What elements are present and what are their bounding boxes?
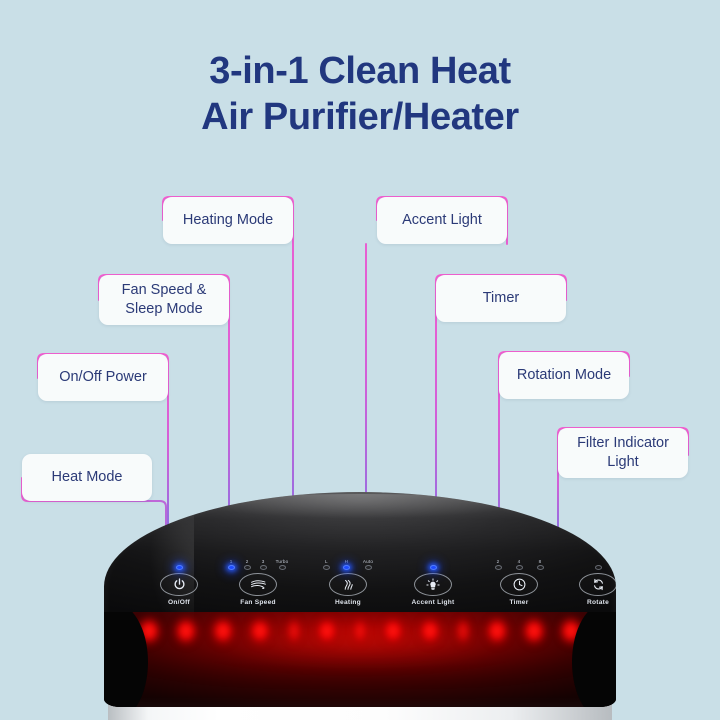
fan-led-2 — [244, 565, 251, 570]
rotate-label: Rotate — [566, 599, 616, 606]
accent-light-button[interactable] — [414, 573, 452, 596]
timer-led-label-2h: 2 — [497, 559, 500, 564]
control-rotate[interactable]: Rotate — [566, 552, 616, 606]
fan-led-turbo — [279, 565, 286, 570]
heating-led-label-high: H — [345, 559, 349, 564]
timer-button[interactable] — [500, 573, 538, 596]
control-timer[interactable]: 2 4 8 Timer — [482, 552, 556, 606]
heater-led — [415, 614, 445, 648]
callout-on-off-power: On/Off Power — [38, 354, 168, 401]
rotate-indicators — [566, 552, 616, 570]
callout-accent-light: Accent Light — [377, 197, 507, 244]
timer-indicators: 2 4 8 — [482, 552, 556, 570]
accent-light-indicators — [392, 552, 474, 570]
clock-icon — [512, 577, 527, 592]
glow-mask-left — [104, 612, 148, 707]
fan-led-label-3: 3 — [262, 559, 265, 564]
timer-label: Timer — [482, 599, 556, 606]
fan-speed-indicators: 1 2 3 Turbo — [212, 552, 304, 570]
heating-label: Heating — [310, 599, 386, 606]
callout-heat-mode: Heat Mode — [22, 454, 152, 501]
fan-speed-button[interactable] — [239, 573, 277, 596]
fan-led-label-turbo: Turbo — [276, 559, 289, 564]
lightbulb-icon — [425, 577, 441, 593]
rotate-button[interactable] — [579, 573, 616, 596]
glow-mask-right — [572, 612, 616, 707]
fan-led-3 — [260, 565, 267, 570]
fan-speed-label: Fan Speed — [212, 599, 304, 606]
heater-led — [283, 614, 305, 648]
air-purifier-heater-device: On/Off 1 2 3 Turbo — [0, 470, 720, 720]
timer-led-4h — [516, 565, 523, 570]
heat-waves-icon — [341, 578, 355, 592]
fan-led-label-2: 2 — [246, 559, 249, 564]
control-heating[interactable]: L H Auto Heating — [310, 552, 386, 606]
heating-led-high — [343, 565, 350, 570]
control-fan-speed[interactable]: 1 2 3 Turbo Fan Speed — [212, 552, 304, 606]
heater-led — [519, 614, 549, 648]
device-top-shell: On/Off 1 2 3 Turbo — [104, 492, 616, 707]
rotate-arrows-icon — [591, 577, 606, 592]
heater-led — [482, 614, 512, 648]
heater-led — [378, 614, 408, 648]
heater-led-row — [134, 614, 586, 660]
accent-light-label: Accent Light — [392, 599, 474, 606]
timer-led-8h — [537, 565, 544, 570]
heater-led — [349, 614, 371, 648]
callout-timer: Timer — [436, 275, 566, 322]
heating-element-glow — [104, 612, 616, 707]
on-off-label: On/Off — [150, 599, 208, 606]
timer-led-label-4h: 4 — [518, 559, 521, 564]
heating-led-label-auto: Auto — [363, 559, 373, 564]
fan-wave-icon — [249, 578, 268, 591]
timer-led-2h — [495, 565, 502, 570]
heating-button[interactable] — [329, 573, 367, 596]
callout-fan-speed-sleep-mode: Fan Speed & Sleep Mode — [99, 275, 229, 325]
rotate-led — [595, 565, 602, 570]
heating-indicators: L H Auto — [310, 552, 386, 570]
heating-led-label-low: L — [325, 559, 328, 564]
on-off-led — [176, 565, 183, 570]
heater-led — [208, 614, 238, 648]
heater-led — [312, 614, 342, 648]
power-icon — [172, 577, 187, 592]
fan-led-label-1: 1 — [230, 559, 233, 564]
heating-led-auto — [365, 565, 372, 570]
fan-led-1 — [228, 565, 235, 570]
on-off-indicators — [150, 552, 208, 570]
heater-led — [452, 614, 474, 648]
control-on-off[interactable]: On/Off — [150, 552, 208, 606]
control-accent-light[interactable]: Accent Light — [392, 552, 474, 606]
callout-rotation-mode: Rotation Mode — [499, 352, 629, 399]
heater-led — [171, 614, 201, 648]
callout-heating-mode: Heating Mode — [163, 197, 293, 244]
accent-light-led — [430, 565, 437, 570]
product-infographic: 3-in-1 Clean Heat Air Purifier/Heater — [0, 0, 720, 720]
timer-led-label-8h: 8 — [539, 559, 542, 564]
heating-led-low — [323, 565, 330, 570]
power-button[interactable] — [160, 573, 198, 596]
callout-filter-indicator-light: Filter Indicator Light — [558, 428, 688, 478]
heater-led — [245, 614, 275, 648]
